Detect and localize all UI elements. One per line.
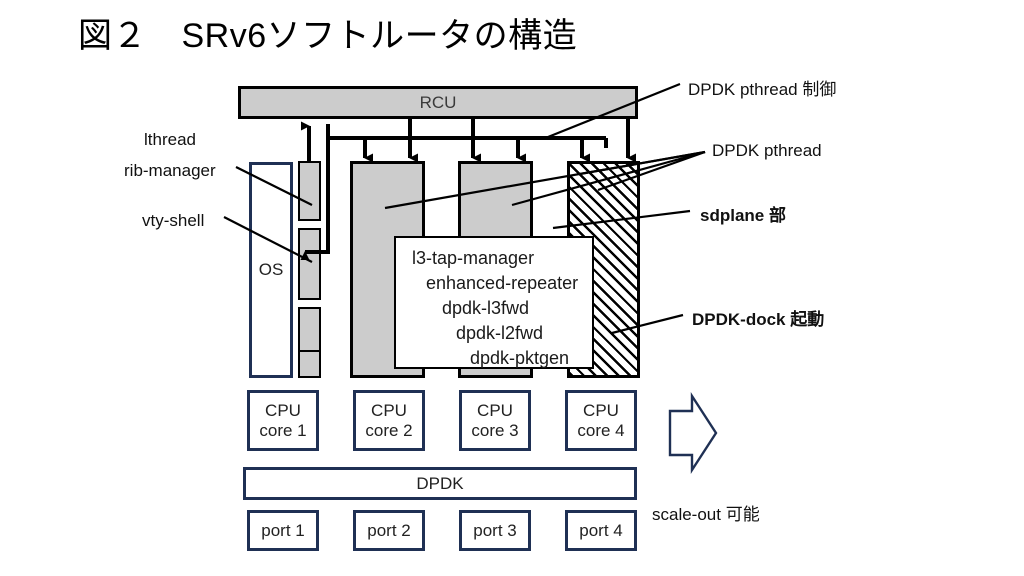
os-label: OS xyxy=(259,260,284,280)
rcu-label: RCU xyxy=(420,93,457,113)
rcu-box: RCU xyxy=(238,86,638,119)
lthread-box-1 xyxy=(298,161,321,221)
port-2-label: port 2 xyxy=(367,521,410,541)
lthread-box-2 xyxy=(298,228,321,300)
page-title: 図２ SRv6ソフトルータの構造 xyxy=(78,14,577,58)
callout-box: l3-tap-manager enhanced-repeater dpdk-l3… xyxy=(394,236,594,369)
cpu-core-1-box: CPU core 1 xyxy=(247,390,319,451)
cpu-core-1-line1: CPU xyxy=(259,401,306,421)
port-4-box: port 4 xyxy=(565,510,637,551)
port-4-label: port 4 xyxy=(579,521,622,541)
cpu-core-3-line1: CPU xyxy=(471,401,518,421)
leader-dpdk-pthread-a xyxy=(385,152,705,208)
callout-line-3: dpdk-l3fwd xyxy=(412,296,576,321)
annotation-dpdk-pthread-control: DPDK pthread 制御 xyxy=(688,75,836,100)
port-3-label: port 3 xyxy=(473,521,516,541)
port-1-box: port 1 xyxy=(247,510,319,551)
callout-line-4: dpdk-l2fwd xyxy=(412,321,576,346)
lthread-box-4 xyxy=(298,350,321,378)
os-box: OS xyxy=(249,162,293,378)
dpdk-bar: DPDK xyxy=(243,467,637,500)
annotation-dpdk-dock: DPDK-dock 起動 xyxy=(692,305,824,330)
cpu-core-2-box: CPU core 2 xyxy=(353,390,425,451)
cpu-core-4-box: CPU core 4 xyxy=(565,390,637,451)
cpu-core-2-line1: CPU xyxy=(365,401,412,421)
annotation-dpdk-pthread: DPDK pthread xyxy=(712,141,822,161)
annotation-vty-shell: vty-shell xyxy=(142,211,204,231)
callout-line-5: dpdk-pktgen xyxy=(412,346,576,371)
dpdk-bar-label: DPDK xyxy=(416,474,463,494)
annotation-sdplane: sdplane 部 xyxy=(700,201,786,226)
scale-out-arrow-icon xyxy=(670,396,716,470)
callout-line-2: enhanced-repeater xyxy=(412,271,576,296)
port-1-label: port 1 xyxy=(261,521,304,541)
cpu-core-4-line1: CPU xyxy=(577,401,624,421)
cpu-core-4-line2: core 4 xyxy=(577,421,624,441)
port-2-box: port 2 xyxy=(353,510,425,551)
cpu-core-3-box: CPU core 3 xyxy=(459,390,531,451)
cpu-core-3-line2: core 3 xyxy=(471,421,518,441)
annotation-rib-manager: rib-manager xyxy=(124,161,216,181)
port-3-box: port 3 xyxy=(459,510,531,551)
cpu-core-1-line2: core 1 xyxy=(259,421,306,441)
annotation-scale-out: scale-out 可能 xyxy=(652,500,760,525)
cpu-core-2-line2: core 2 xyxy=(365,421,412,441)
annotation-lthread: lthread xyxy=(144,130,196,150)
callout-line-1: l3-tap-manager xyxy=(412,246,576,271)
